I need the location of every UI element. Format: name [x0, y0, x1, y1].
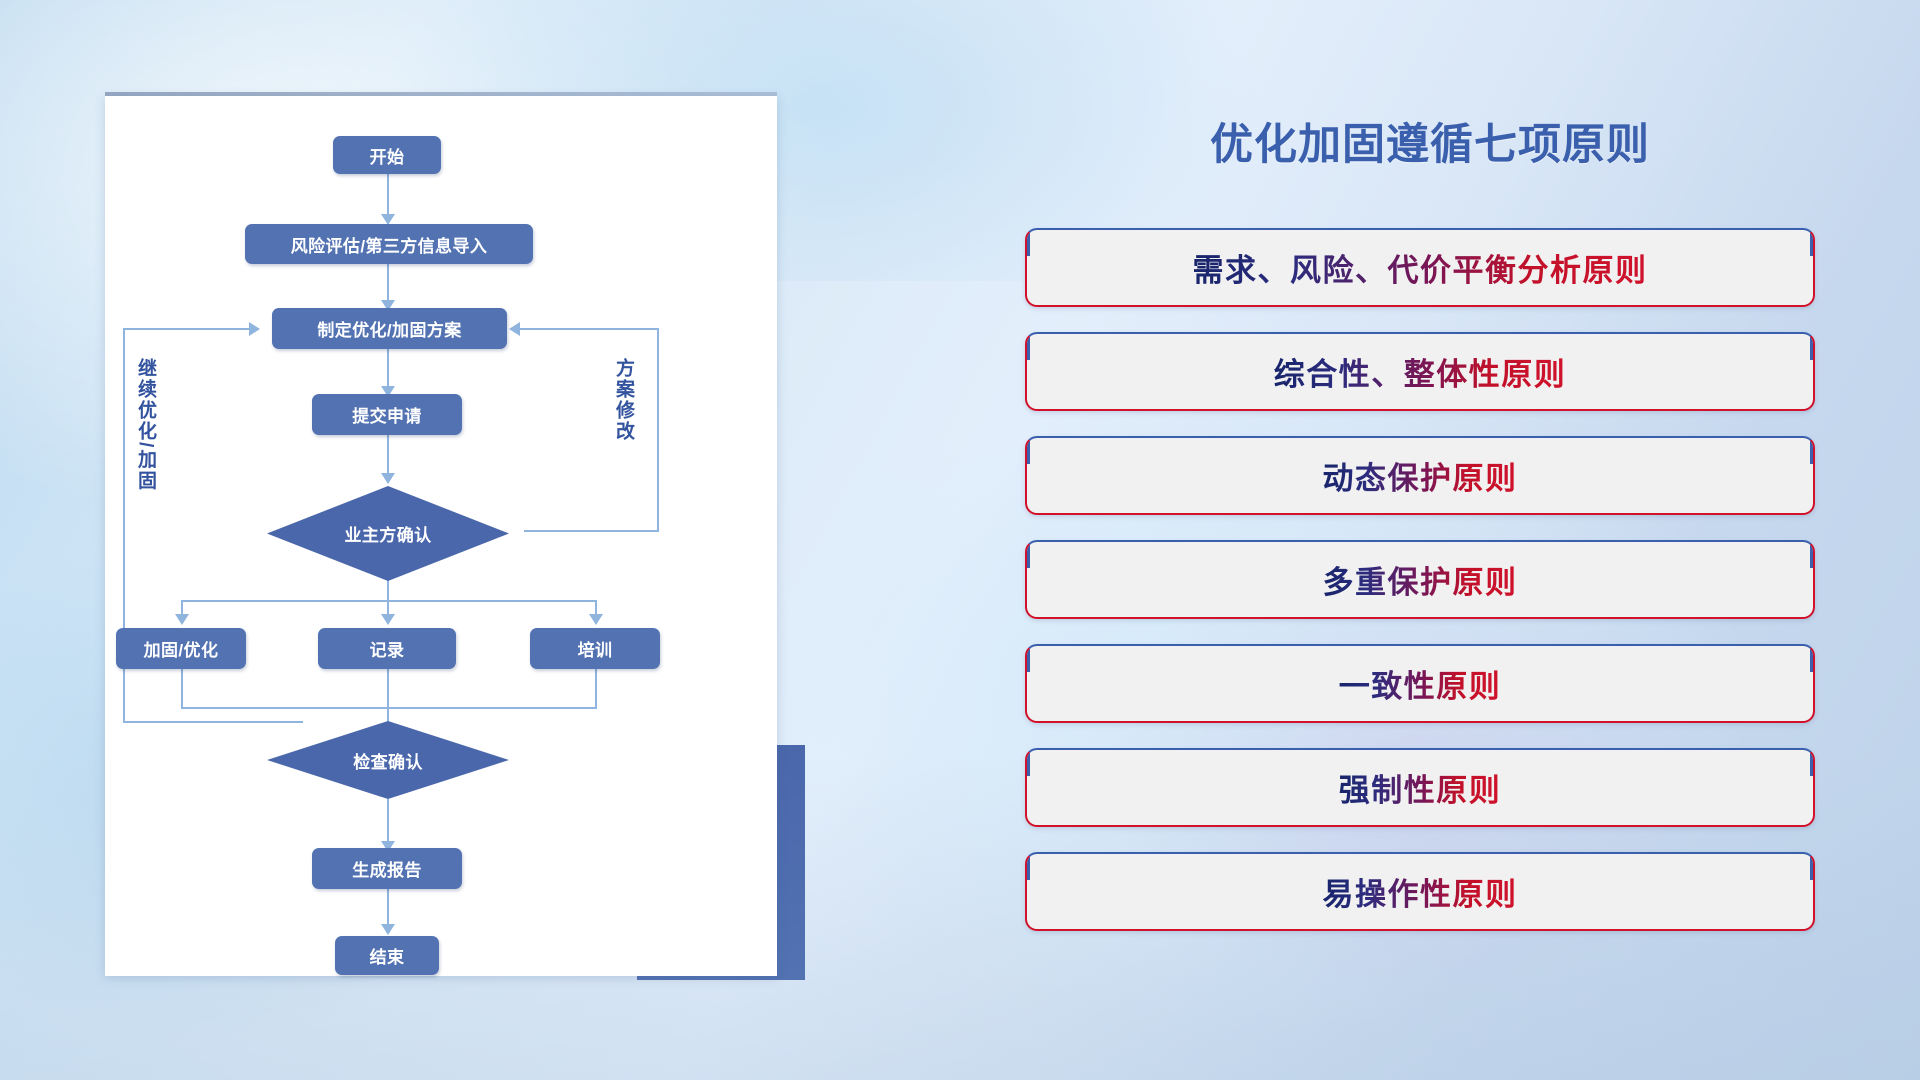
flow-node-record[interactable]: 记录 — [318, 628, 456, 669]
arrowhead-right-to-plan — [509, 322, 520, 336]
flow-node-check-confirm[interactable]: 检查确认 — [267, 721, 509, 799]
arrowhead-branch-mid — [381, 614, 395, 625]
principle-card[interactable]: 需求、风险、代价平衡分析原则 — [1025, 228, 1815, 307]
principles-title: 优化加固遵循七项原则 — [1020, 110, 1840, 172]
flow-node-start[interactable]: 开始 — [333, 136, 441, 174]
principle-card[interactable]: 易操作性原则 — [1025, 852, 1815, 931]
principles-panel: 优化加固遵循七项原则 需求、风险、代价平衡分析原则 综合性、整体性原则 动态保护… — [1020, 96, 1840, 996]
principle-card[interactable]: 综合性、整体性原则 — [1025, 332, 1815, 411]
principle-label: 需求、风险、代价平衡分析原则 — [1193, 245, 1648, 290]
edge-label-plan-revision: 方案修改 — [613, 358, 633, 442]
flowchart-card: 开始 风险评估/第三方信息导入 制定优化/加固方案 提交申请 业主方确认 加固/… — [105, 96, 777, 976]
flow-node-make-plan[interactable]: 制定优化/加固方案 — [272, 308, 507, 349]
principle-label: 一致性原则 — [1339, 661, 1502, 706]
flow-node-check-confirm-label: 检查确认 — [267, 721, 509, 799]
arrowhead-submit-to-owner — [381, 473, 395, 484]
flow-node-reinforce[interactable]: 加固/优化 — [116, 628, 246, 669]
flow-node-owner-confirm-label: 业主方确认 — [267, 486, 509, 581]
flow-node-training[interactable]: 培训 — [530, 628, 660, 669]
principle-label: 强制性原则 — [1339, 765, 1502, 810]
flow-node-submit-application[interactable]: 提交申请 — [312, 394, 462, 435]
flow-node-generate-report[interactable]: 生成报告 — [312, 848, 462, 889]
connector-owner-to-right — [524, 530, 659, 532]
principle-label: 综合性、整体性原则 — [1274, 349, 1567, 394]
principle-label: 动态保护原则 — [1323, 453, 1518, 498]
edge-label-continue-optimize: 继续优化/加固 — [135, 358, 155, 491]
flowchart-diagram: 开始 风险评估/第三方信息导入 制定优化/加固方案 提交申请 业主方确认 加固/… — [105, 96, 777, 976]
connector-left-to-plan — [123, 328, 251, 330]
principle-card[interactable]: 动态保护原则 — [1025, 436, 1815, 515]
connector-reinforce-down — [181, 669, 183, 707]
flow-node-owner-confirm[interactable]: 业主方确认 — [267, 486, 509, 581]
arrowhead-report-to-end — [381, 924, 395, 935]
principle-label: 多重保护原则 — [1323, 557, 1518, 602]
connector-right-vertical — [657, 328, 659, 532]
connector-right-to-plan — [515, 328, 659, 330]
arrowhead-left-to-plan — [249, 322, 260, 336]
connector-merge-bus — [181, 707, 597, 709]
connector-training-down — [595, 669, 597, 707]
flow-node-risk-assessment[interactable]: 风险评估/第三方信息导入 — [245, 224, 533, 264]
principle-card[interactable]: 一致性原则 — [1025, 644, 1815, 723]
principle-card[interactable]: 强制性原则 — [1025, 748, 1815, 827]
principles-list: 需求、风险、代价平衡分析原则 综合性、整体性原则 动态保护原则 多重保护原则 一… — [1025, 228, 1815, 956]
flow-node-end[interactable]: 结束 — [335, 936, 439, 975]
principle-card[interactable]: 多重保护原则 — [1025, 540, 1815, 619]
arrowhead-branch-right — [589, 614, 603, 625]
connector-owner-down — [387, 580, 389, 600]
principle-label: 易操作性原则 — [1323, 869, 1518, 914]
arrowhead-branch-left — [175, 614, 189, 625]
